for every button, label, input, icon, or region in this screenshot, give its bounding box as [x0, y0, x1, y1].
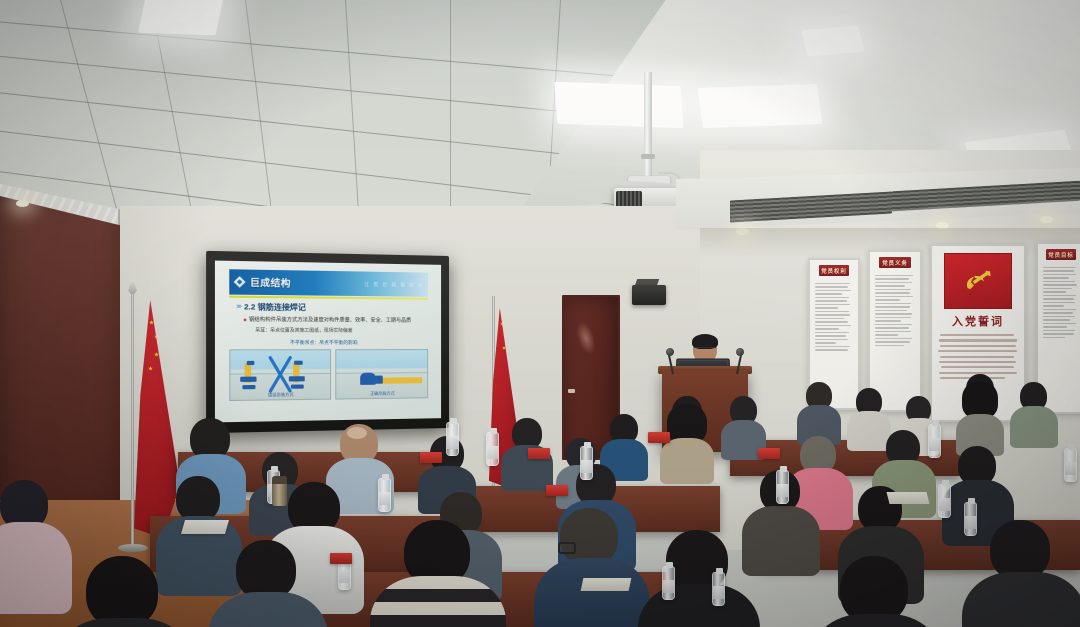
desk-nameplate [528, 448, 550, 459]
poster-title: 党员义务 [879, 257, 911, 268]
slide-heading: 2.2 钢筋连接焊记 [244, 301, 306, 313]
water-bottle[interactable] [1064, 448, 1077, 482]
slide-bullet-2: 吊耳：吊点位置及其施工图纸，现场实际偏差 [255, 328, 352, 334]
slide-heading-row: ››› 2.2 钢筋连接焊记 [236, 301, 305, 313]
ceiling-light-panel [138, 0, 224, 35]
ceiling-light-panel [801, 25, 864, 56]
slide-figure-caption: 不平衡吊点：吊点不平衡的影响 [290, 340, 358, 346]
wall-speaker [632, 285, 666, 305]
water-bottle[interactable] [776, 470, 789, 504]
projector-pole [644, 72, 652, 178]
slide-brand-text: 巨成结构 [250, 275, 291, 289]
ceiling-light-panel [697, 84, 822, 128]
slide-brand-subtitle: 江 苏 巨 成 钢 结 构 [364, 282, 424, 289]
poster-body-text [810, 279, 858, 355]
slide-figure-correct: 正确吊装方式 [336, 349, 429, 399]
door-reflection [573, 319, 599, 356]
downlight [1040, 216, 1053, 223]
desk-nameplate [758, 448, 780, 459]
slide-figure-incorrect: 错误吊装方式 [229, 349, 331, 401]
projection-screen: 巨成结构 江 苏 巨 成 钢 结 构 ››› 2.2 钢筋连接焊记 钢结构构件吊… [206, 251, 449, 433]
projector-pole-joint [641, 154, 655, 159]
water-bottle[interactable] [662, 566, 675, 600]
attendee-glasses-icon [558, 542, 576, 554]
microphone-head [666, 348, 674, 356]
bald-head-highlight [347, 427, 367, 439]
poster-title: 党员权利 [819, 265, 850, 276]
poster-title: 党员目标 [1046, 249, 1075, 260]
water-bottle[interactable] [486, 432, 499, 466]
slide-bullet-1: 钢结构构件吊装方式方法及速度对构件质量、效率、安全、工期与品质 [243, 316, 411, 324]
microphone-head [736, 348, 744, 356]
figure-left-caption: 错误吊装方式 [230, 392, 330, 400]
cpc-party-flag [944, 253, 1012, 309]
water-bottle[interactable] [938, 484, 951, 518]
desk-nameplate [546, 485, 568, 496]
ceiling-projector [614, 72, 684, 222]
desk-nameplate [648, 432, 670, 443]
conference-room-photo: 巨成结构 江 苏 巨 成 钢 结 构 ››› 2.2 钢筋连接焊记 钢结构构件吊… [0, 0, 1080, 627]
presenter-glasses-icon [694, 347, 716, 351]
poster-title: 入党誓词 [932, 313, 1024, 329]
poster-body-text [1038, 263, 1080, 342]
figure-right-caption: 正确吊装方式 [337, 390, 428, 397]
left-wood-wall-panel [0, 196, 122, 526]
hammer-sickle-icon [961, 268, 995, 294]
slide-header-bar: 巨成结构 江 苏 巨 成 钢 结 构 [229, 269, 428, 297]
water-bottle[interactable] [964, 502, 977, 536]
door-handle[interactable] [568, 389, 575, 393]
thermos-cup[interactable] [272, 476, 287, 506]
water-bottle[interactable] [712, 572, 725, 606]
screen-surface: 巨成结构 江 苏 巨 成 钢 结 构 ››› 2.2 钢筋连接焊记 钢结构构件吊… [215, 261, 441, 423]
chevron-right-icon: ››› [236, 303, 240, 310]
poster-body-text [870, 271, 920, 350]
notebook[interactable] [887, 492, 930, 504]
poster-party-duties: 党员义务 [868, 250, 922, 412]
desk-nameplate [420, 452, 442, 463]
downlight [16, 200, 29, 207]
water-bottle[interactable] [378, 478, 391, 512]
notebook[interactable] [181, 520, 229, 534]
notebook[interactable] [581, 578, 632, 591]
desk-nameplate [330, 553, 352, 564]
water-bottle[interactable] [580, 446, 593, 480]
water-bottle[interactable] [928, 424, 941, 458]
water-bottle[interactable] [446, 422, 459, 456]
incorrect-x-mark-icon [238, 353, 322, 396]
